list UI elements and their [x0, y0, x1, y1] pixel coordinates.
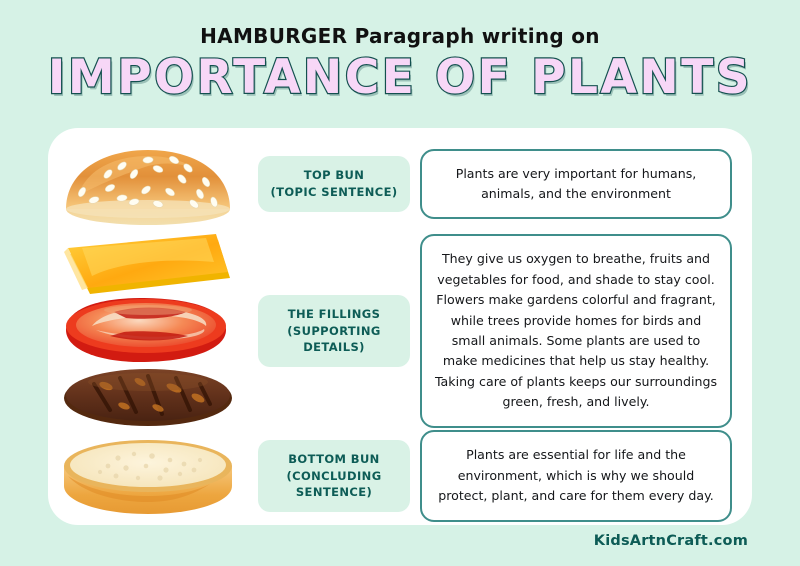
- chip-bottom-bun: BOTTOM BUN (CONCLUDING SENTENCE): [258, 440, 410, 512]
- illustration-top-bun: [48, 136, 248, 232]
- chip-line: BOTTOM BUN: [268, 451, 400, 468]
- content-card: TOP BUN (TOPIC SENTENCE) Plants are very…: [48, 128, 752, 525]
- cheese-slice-icon: [64, 234, 230, 294]
- page-title: IMPORTANCE OF PLANTS: [0, 53, 800, 102]
- cheese-tomato-patty-icon: [48, 232, 248, 430]
- chip-line: THE FILLINGS: [268, 306, 400, 323]
- chip-line: DETAILS): [268, 339, 400, 356]
- chip-line: TOP BUN: [268, 167, 400, 184]
- row-bottom-bun: BOTTOM BUN (CONCLUDING SENTENCE) Plants …: [48, 430, 752, 522]
- chip-line: SENTENCE): [268, 484, 400, 501]
- label-bottom-bun: BOTTOM BUN (CONCLUDING SENTENCE): [248, 440, 420, 512]
- chip-line: (TOPIC SENTENCE): [268, 184, 400, 201]
- chip-line: (SUPPORTING: [268, 323, 400, 340]
- label-fillings: THE FILLINGS (SUPPORTING DETAILS): [248, 295, 420, 367]
- text-cell-fillings: They give us oxygen to breathe, fruits a…: [420, 234, 752, 427]
- patty-icon: [64, 369, 232, 426]
- text-cell-top-bun: Plants are very important for humans, an…: [420, 149, 752, 220]
- illustration-bottom-bun: [48, 430, 248, 522]
- chip-top-bun: TOP BUN (TOPIC SENTENCE): [258, 156, 410, 211]
- sesame-top-bun-icon: [48, 136, 248, 232]
- supporting-details-box: They give us oxygen to breathe, fruits a…: [420, 234, 732, 427]
- tomato-slice-icon: [66, 298, 226, 362]
- brand-watermark: KidsArtnCraft.com: [594, 533, 748, 549]
- row-fillings: THE FILLINGS (SUPPORTING DETAILS) They g…: [48, 232, 752, 430]
- row-top-bun: TOP BUN (TOPIC SENTENCE) Plants are very…: [48, 136, 752, 232]
- concluding-sentence-box: Plants are essential for life and the en…: [420, 430, 732, 521]
- chip-fillings: THE FILLINGS (SUPPORTING DETAILS): [258, 295, 410, 367]
- label-top-bun: TOP BUN (TOPIC SENTENCE): [248, 156, 420, 211]
- chip-line: (CONCLUDING: [268, 468, 400, 485]
- bottom-bun-icon: [48, 430, 248, 522]
- topic-sentence-box: Plants are very important for humans, an…: [420, 149, 732, 220]
- poster-header: HAMBURGER Paragraph writing on IMPORTANC…: [0, 0, 800, 128]
- text-cell-bottom-bun: Plants are essential for life and the en…: [420, 430, 752, 521]
- illustration-fillings: [48, 232, 248, 430]
- poster-subtitle: HAMBURGER Paragraph writing on: [0, 26, 800, 46]
